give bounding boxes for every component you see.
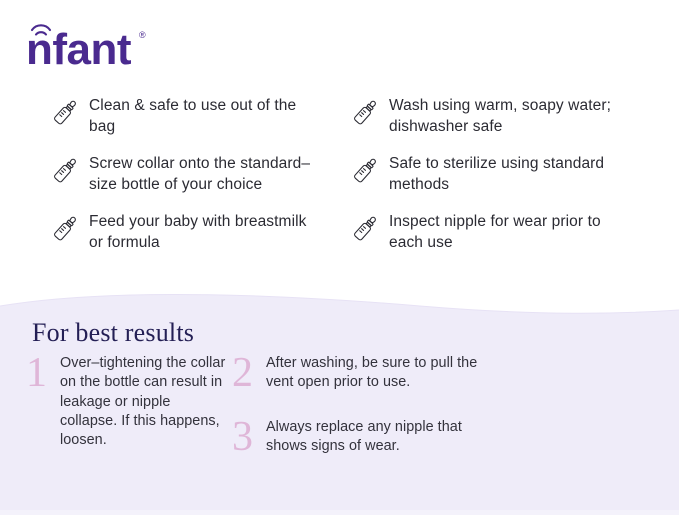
feature-item-label: Inspect nipple for wear prior to each us… xyxy=(389,212,621,253)
baby-bottle-icon xyxy=(50,156,80,186)
feature-item: Safe to sterilize using standard methods xyxy=(350,154,650,195)
feature-item-label: Safe to sterilize using standard methods xyxy=(389,154,621,195)
step-item: 3 Always replace any nipple that shows s… xyxy=(232,418,492,457)
baby-bottle-icon xyxy=(350,156,380,186)
baby-bottle-icon xyxy=(50,214,80,244)
feature-item: Clean & safe to use out of the bag xyxy=(50,96,350,137)
baby-bottle-icon xyxy=(50,98,80,128)
step-item: 1 Over–tightening the collar on the bott… xyxy=(26,354,236,450)
feature-item: Inspect nipple for wear prior to each us… xyxy=(350,212,650,253)
step-text: After washing, be sure to pull the vent … xyxy=(266,354,486,393)
feature-column-right: Wash using warm, soapy water; dishwasher… xyxy=(350,96,650,271)
baby-bottle-icon xyxy=(350,214,380,244)
feature-item-label: Screw collar onto the standard–size bott… xyxy=(89,154,321,195)
feature-item-label: Feed your baby with breastmilk or formul… xyxy=(89,212,321,253)
brand-logo: nfant ® xyxy=(26,18,226,70)
infographic-page: nfant ® Clean & xyxy=(0,0,679,515)
feature-list: Clean & safe to use out of the bag S xyxy=(0,96,679,271)
step-text: Always replace any nipple that shows sig… xyxy=(266,418,471,457)
step-number: 1 xyxy=(26,354,60,393)
step-number: 3 xyxy=(232,418,266,457)
feature-item: Wash using warm, soapy water; dishwasher… xyxy=(350,96,650,137)
feature-column-left: Clean & safe to use out of the bag S xyxy=(50,96,350,271)
step-text: Over–tightening the collar on the bottle… xyxy=(60,354,228,450)
feature-item-label: Clean & safe to use out of the bag xyxy=(89,96,321,137)
best-results-panel: For best results 1 Over–tightening the c… xyxy=(0,288,679,515)
feature-item: Feed your baby with breastmilk or formul… xyxy=(50,212,350,253)
feature-item: Screw collar onto the standard–size bott… xyxy=(50,154,350,195)
panel-title: For best results xyxy=(32,318,194,348)
baby-bottle-icon xyxy=(350,98,380,128)
feature-item-label: Wash using warm, soapy water; dishwasher… xyxy=(389,96,621,137)
step-number: 2 xyxy=(232,354,266,393)
logo-wordmark: nfant xyxy=(26,25,132,70)
registered-trademark-symbol: ® xyxy=(139,30,146,40)
step-item: 2 After washing, be sure to pull the ven… xyxy=(232,354,492,393)
